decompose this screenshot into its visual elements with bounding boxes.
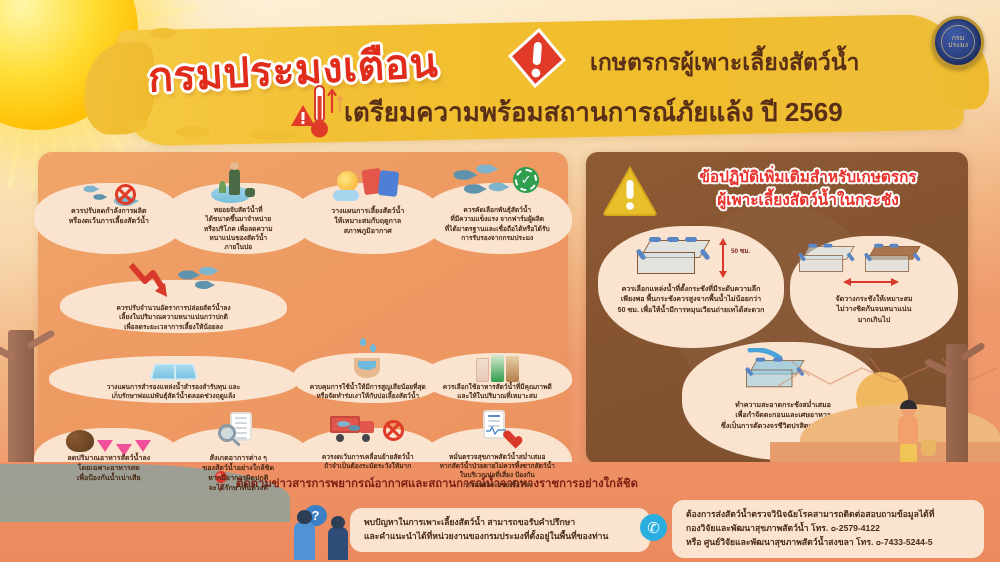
paint-splatter xyxy=(250,130,296,140)
cage-card-depth: 50 ซม. ควรเลือกแหล่งน้ำที่ตั้งกระชังที่ม… xyxy=(598,226,784,348)
tips-grid: ควรปรับลดกำลังการผลิต หรืองดเว้นการเลี้ย… xyxy=(44,158,562,458)
paint-splatter xyxy=(176,126,210,137)
paint-splatter xyxy=(150,28,176,38)
reserve-pond-icon xyxy=(152,338,196,382)
health-report-heart-icon xyxy=(475,408,519,452)
tip-text: หมั่นตรวจสุขภาพสัตว์น้ำสม่ำเสมอ หากสัตว์… xyxy=(437,452,558,490)
tip-text: ทยอยจับสัตว์น้ำที่ ได้ขนาดขึ้นมาจำหน่าย … xyxy=(201,205,276,253)
cage-text: จัดวางกระชังให้เหมาะสม ไม่วางชิดกันจนหนา… xyxy=(826,292,921,325)
tip-card-gradual-harvest: ทยอยจับสัตว์น้ำที่ ได้ขนาดขึ้นมาจำหน่าย … xyxy=(174,158,304,256)
tip-card-plan-by-season: วางแผนการเลี้ยงสัตว์น้ำ ให้เหมาะสมกับฤดู… xyxy=(303,158,433,256)
left-tips-card: ควรปรับลดกำลังการผลิต หรืองดเว้นการเลี้ย… xyxy=(38,152,568,464)
tip-text: วางแผนการเลี้ยงสัตว์น้ำ ให้เหมาะสมกับฤดู… xyxy=(328,205,407,236)
thermometer-icon xyxy=(306,82,346,140)
two-people-icon: ? xyxy=(288,505,348,560)
hands-water-drop-icon xyxy=(348,338,388,382)
tip-text: ควบคุมการใช้น้ำให้มีการสูญเสียน้อยที่สุด… xyxy=(307,382,429,402)
down-arrow-fish-icon xyxy=(119,259,229,303)
feed-bags-icon xyxy=(476,338,519,382)
tip-card-minimize-water-use: ควบคุมการใช้น้ำให้มีการสูญเสียน้อยที่สุด… xyxy=(303,335,433,405)
cage-card-spacing: จัดวางกระชังให้เหมาะสม ไม่วางชิดกันจนหนา… xyxy=(790,236,958,348)
tip-card-quality-feed: ควรเลือกใช้อาหารสัตว์น้ำที่มีคุณภาพดี แล… xyxy=(433,335,563,405)
tip-text: ควรงดเว้นการเคลื่อนย้ายสัตว์น้ำ ถ้าจำเป็… xyxy=(319,452,417,472)
tip-card-health-check: หมั่นตรวจสุขภาพสัตว์น้ำสม่ำเสมอ หากสัตว์… xyxy=(433,405,563,496)
department-seal-logo: กรมประมง xyxy=(932,16,984,68)
header-subtitle-1: เกษตรกรผู้เพาะเลี้ยงสัตว์น้ำ xyxy=(590,45,859,81)
tip-text: ควรคัดเลือกพันธุ์สัตว์น้ำ ที่มีความแข็งแ… xyxy=(442,205,553,243)
farmer-drought-icon xyxy=(894,400,928,470)
header-subtitle-2: เตรียมความพร้อมสถานการณ์ภัยแล้ง ปี 2569 xyxy=(344,92,843,133)
phone-ring-icon[interactable]: ✆ xyxy=(640,514,667,541)
dimension-label: 50 ซม. xyxy=(731,246,750,256)
clipboard-magnifier-icon xyxy=(216,408,260,452)
cage-text: ควรเลือกแหล่งน้ำที่ตั้งกระชังที่มีระดับค… xyxy=(609,282,774,315)
cage-spacing-icon xyxy=(799,240,949,292)
tip-text: ลดปริมาณอาหารสัตว์น้ำลง โดยเฉพาะอาหารสด … xyxy=(64,452,153,483)
tip-card-select-strong-fry: ✓ ควรคัดเลือกพันธุ์สัตว์น้ำ ที่มีความแข็… xyxy=(433,158,563,256)
bare-tree-icon xyxy=(946,344,968,470)
cage-depth-icon: 50 ซม. xyxy=(629,230,753,282)
contact-info-box: ต้องการส่งสัตว์น้ำตรวจวินิจฉัยโรคสามารถต… xyxy=(672,500,984,558)
feed-pellets-down-arrows-icon xyxy=(66,408,151,452)
tip-text: ควรเลือกใช้อาหารสัตว์น้ำที่มีคุณภาพดี แล… xyxy=(440,382,555,402)
tip-text: ควรปรับจำนวนอัตราการปล่อยสัตว์น้ำลง เลี้… xyxy=(113,303,233,332)
tip-card-water-reserve-plan: วางแผนการสำรองแหล่งน้ำสำรองสำรับทุน และ … xyxy=(44,335,303,405)
warning-triangle-icon xyxy=(603,166,657,216)
fish-no-entry-icon xyxy=(82,161,136,205)
paint-splatter xyxy=(126,118,148,131)
tip-text: วางแผนการสำรองแหล่งน้ำสำรองสำรับทุน และ … xyxy=(104,382,243,402)
seal-label: กรมประมง xyxy=(941,25,975,59)
exclamation-diamond-icon xyxy=(504,26,570,90)
infographic-poster: กรมประมงเตือน เกษตรกรผู้เพาะเลี้ยงสัตว์น… xyxy=(0,0,1000,562)
tip-card-reduce-production: ควรปรับลดกำลังการผลิต หรืองดเว้นการเลี้ย… xyxy=(44,158,174,256)
truck-fish-no-entry-icon xyxy=(330,408,406,452)
consult-info-box: พบปัญหาในการเพาะเลี้ยงสัตว์น้ำ สามารถขอร… xyxy=(350,508,650,552)
farmer-pond-icon xyxy=(209,161,267,205)
bare-tree-icon xyxy=(8,330,34,470)
tip-card-reduce-stocking: ควรปรับจำนวนอัตราการปล่อยสัตว์น้ำลง เลี้… xyxy=(44,256,303,335)
sun-calendar-icon xyxy=(333,161,403,205)
right-panel-title: ข้อปฏิบัติเพิ่มเติมสำหรับเกษตรกร ผู้เพาะ… xyxy=(658,166,958,212)
fish-verified-badge-icon: ✓ xyxy=(451,161,543,205)
tip-text: สังเกตอาการต่าง ๆ ของสัตว์น้ำอย่างใกล้ชิ… xyxy=(199,452,277,493)
tip-text: ควรปรับลดกำลังการผลิต หรืองดเว้นการเลี้ย… xyxy=(66,205,152,226)
